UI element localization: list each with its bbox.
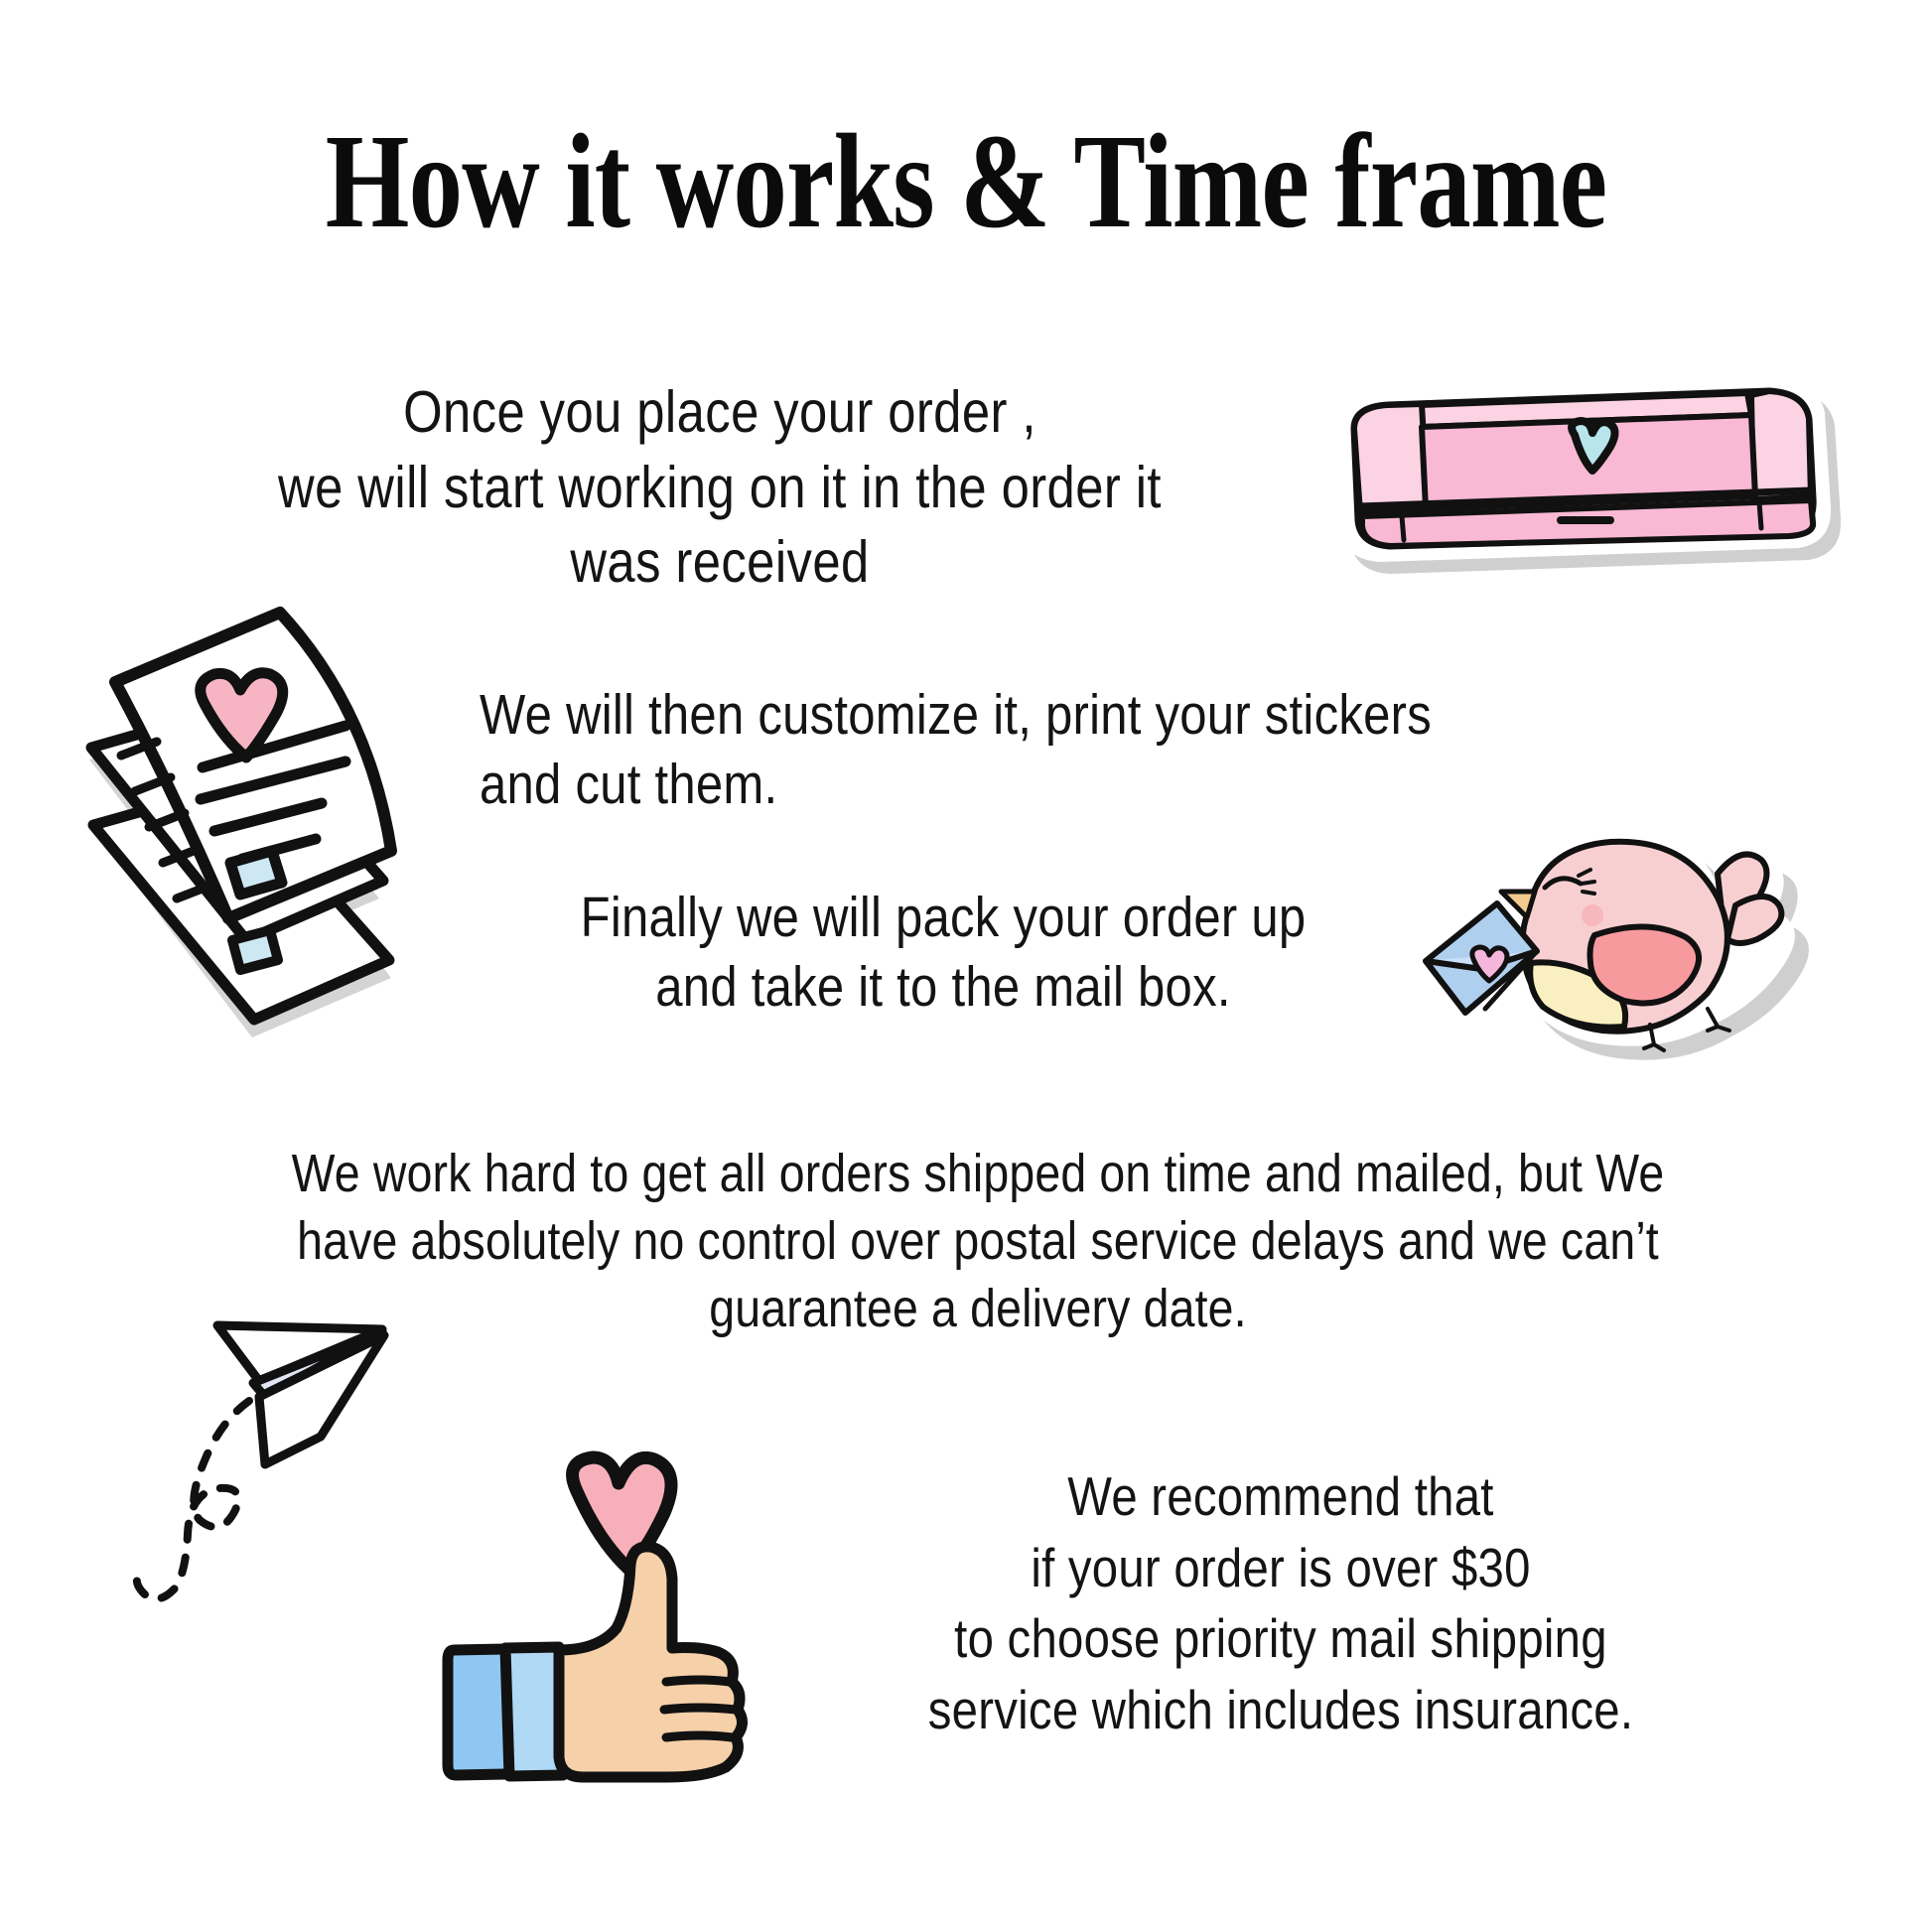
bird-with-envelope-icon [1420, 814, 1837, 1102]
paper-airplane-icon [55, 1296, 397, 1613]
page-title: How it works & Time frame [194, 111, 1739, 253]
sticker-sheets-icon [60, 591, 437, 1057]
customize-paragraph: We will then customize it, print your st… [480, 681, 1760, 819]
shipping-delays-paragraph: We work hard to get all orders shipped o… [265, 1140, 1691, 1342]
infographic-page: How it works & Time frame Once you place… [0, 0, 1932, 1932]
intro-paragraph: Once you place your order , we will star… [204, 375, 1237, 601]
final-pack-paragraph: Finally we will pack your order up and t… [440, 884, 1448, 1022]
cutting-machine-icon [1311, 357, 1847, 601]
thumbs-up-icon [402, 1440, 759, 1876]
recommendation-paragraph: We recommend that if your order is over … [777, 1461, 1785, 1745]
